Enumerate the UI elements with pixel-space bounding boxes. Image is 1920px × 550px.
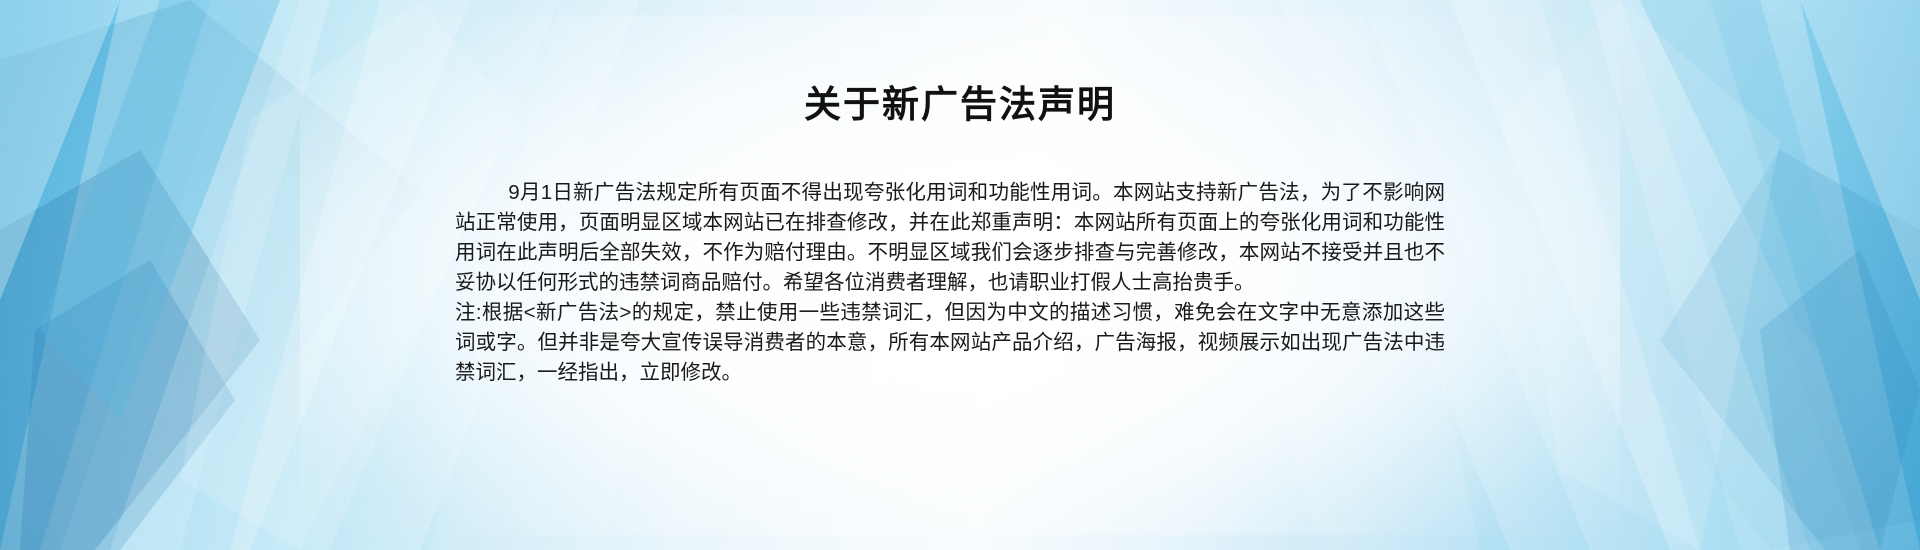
note-paragraph: 注:根据<新广告法>的规定，禁止使用一些违禁词汇，但因为中文的描述习惯，难免会在… — [455, 298, 1445, 388]
statement-body: 9月1日新广告法规定所有页面不得出现夸张化用词和功能性用词。本网站支持新广告法，… — [455, 178, 1445, 388]
statement-paragraph: 9月1日新广告法规定所有页面不得出现夸张化用词和功能性用词。本网站支持新广告法，… — [455, 178, 1445, 298]
announcement-banner: 关于新广告法声明 9月1日新广告法规定所有页面不得出现夸张化用词和功能性用词。本… — [0, 0, 1920, 550]
page-title: 关于新广告法声明 — [0, 82, 1920, 128]
banner-content: 关于新广告法声明 9月1日新广告法规定所有页面不得出现夸张化用词和功能性用词。本… — [0, 0, 1920, 550]
